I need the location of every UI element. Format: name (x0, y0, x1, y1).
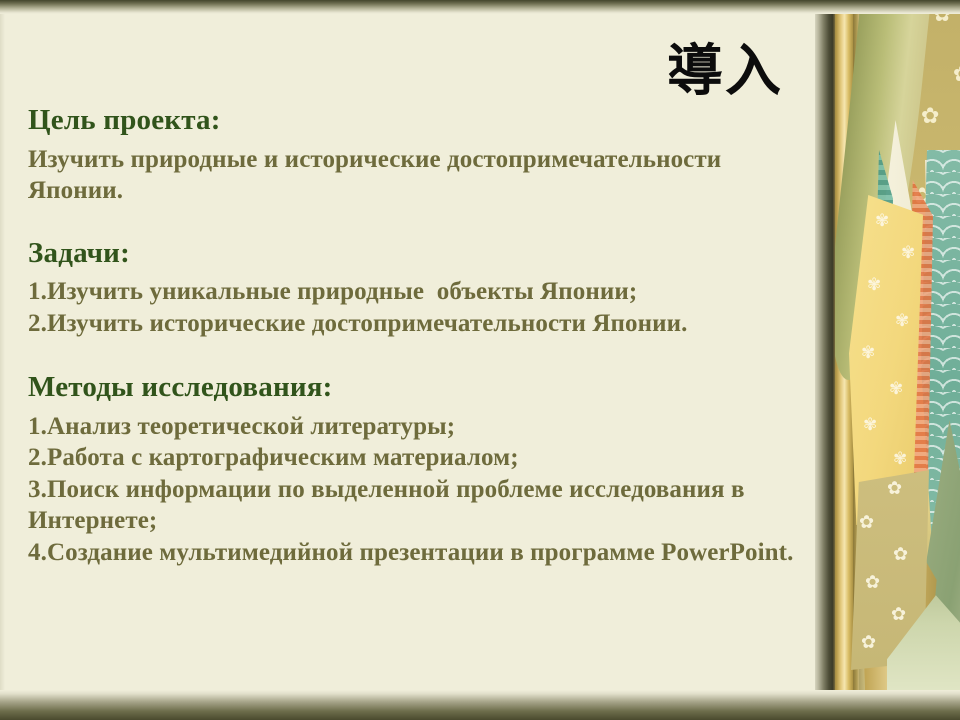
band-shadow-edge (815, 0, 835, 720)
slide-edge-top (0, 0, 960, 14)
flower-motif-icon: ✿ (893, 546, 908, 564)
flower-motif-icon: ✾ (867, 277, 881, 294)
flower-motif-icon: ✿ (861, 634, 876, 652)
flower-motif-icon: ✾ (889, 381, 903, 398)
decorative-border-band: ✿ ✿ ✿ ✿ ✿ ✿ ✿ ✿ ✾ ✾ ✾ ✾ ✾ (815, 0, 960, 720)
slide-edge-bottom (0, 690, 960, 720)
method-item-2: 2.Работа с картографическим материалом; (28, 442, 808, 474)
section-heading-methods: Методы исследования: (28, 371, 808, 405)
slide-body: Цель проекта: Изучить природные и истори… (28, 104, 808, 568)
flower-motif-icon: ✾ (861, 345, 875, 362)
section-heading-goal: Цель проекта: (28, 104, 808, 138)
goal-text-line: Изучить природные и исторические достопр… (28, 144, 808, 207)
task-item-2: 2.Изучить исторические достопримечательн… (28, 308, 808, 340)
section-heading-tasks: Задачи: (28, 237, 808, 271)
flower-motif-icon: ✾ (863, 417, 877, 434)
method-item-4: 4.Создание мультимедийной презентации в … (28, 537, 808, 569)
flower-motif-icon: ✿ (953, 64, 960, 86)
spacer (28, 339, 808, 371)
flower-motif-icon: ✿ (891, 606, 906, 624)
presentation-slide: ✿ ✿ ✿ ✿ ✿ ✿ ✿ ✿ ✾ ✾ ✾ ✾ ✾ (0, 0, 960, 720)
flower-motif-icon: ✾ (901, 245, 915, 262)
flower-motif-icon: ✾ (895, 313, 909, 330)
flower-motif-icon: ✿ (887, 480, 902, 498)
spacer (28, 207, 808, 237)
task-item-1: 1.Изучить уникальные природные объекты Я… (28, 276, 808, 308)
method-item-3: 3.Поиск информации по выделенной проблем… (28, 474, 808, 537)
flower-motif-icon: ✿ (921, 106, 939, 128)
flower-motif-icon: ✿ (859, 514, 874, 532)
flower-motif-icon: ✾ (893, 451, 907, 468)
band-artwork: ✿ ✿ ✿ ✿ ✿ ✿ ✿ ✿ ✾ ✾ ✾ ✾ ✾ (833, 0, 960, 720)
slide-title: 導入 (640, 44, 810, 100)
flower-motif-icon: ✾ (875, 213, 889, 230)
method-item-1: 1.Анализ теоретической литературы; (28, 411, 808, 443)
flower-motif-icon: ✿ (865, 574, 880, 592)
slide-edge-left (0, 0, 5, 720)
